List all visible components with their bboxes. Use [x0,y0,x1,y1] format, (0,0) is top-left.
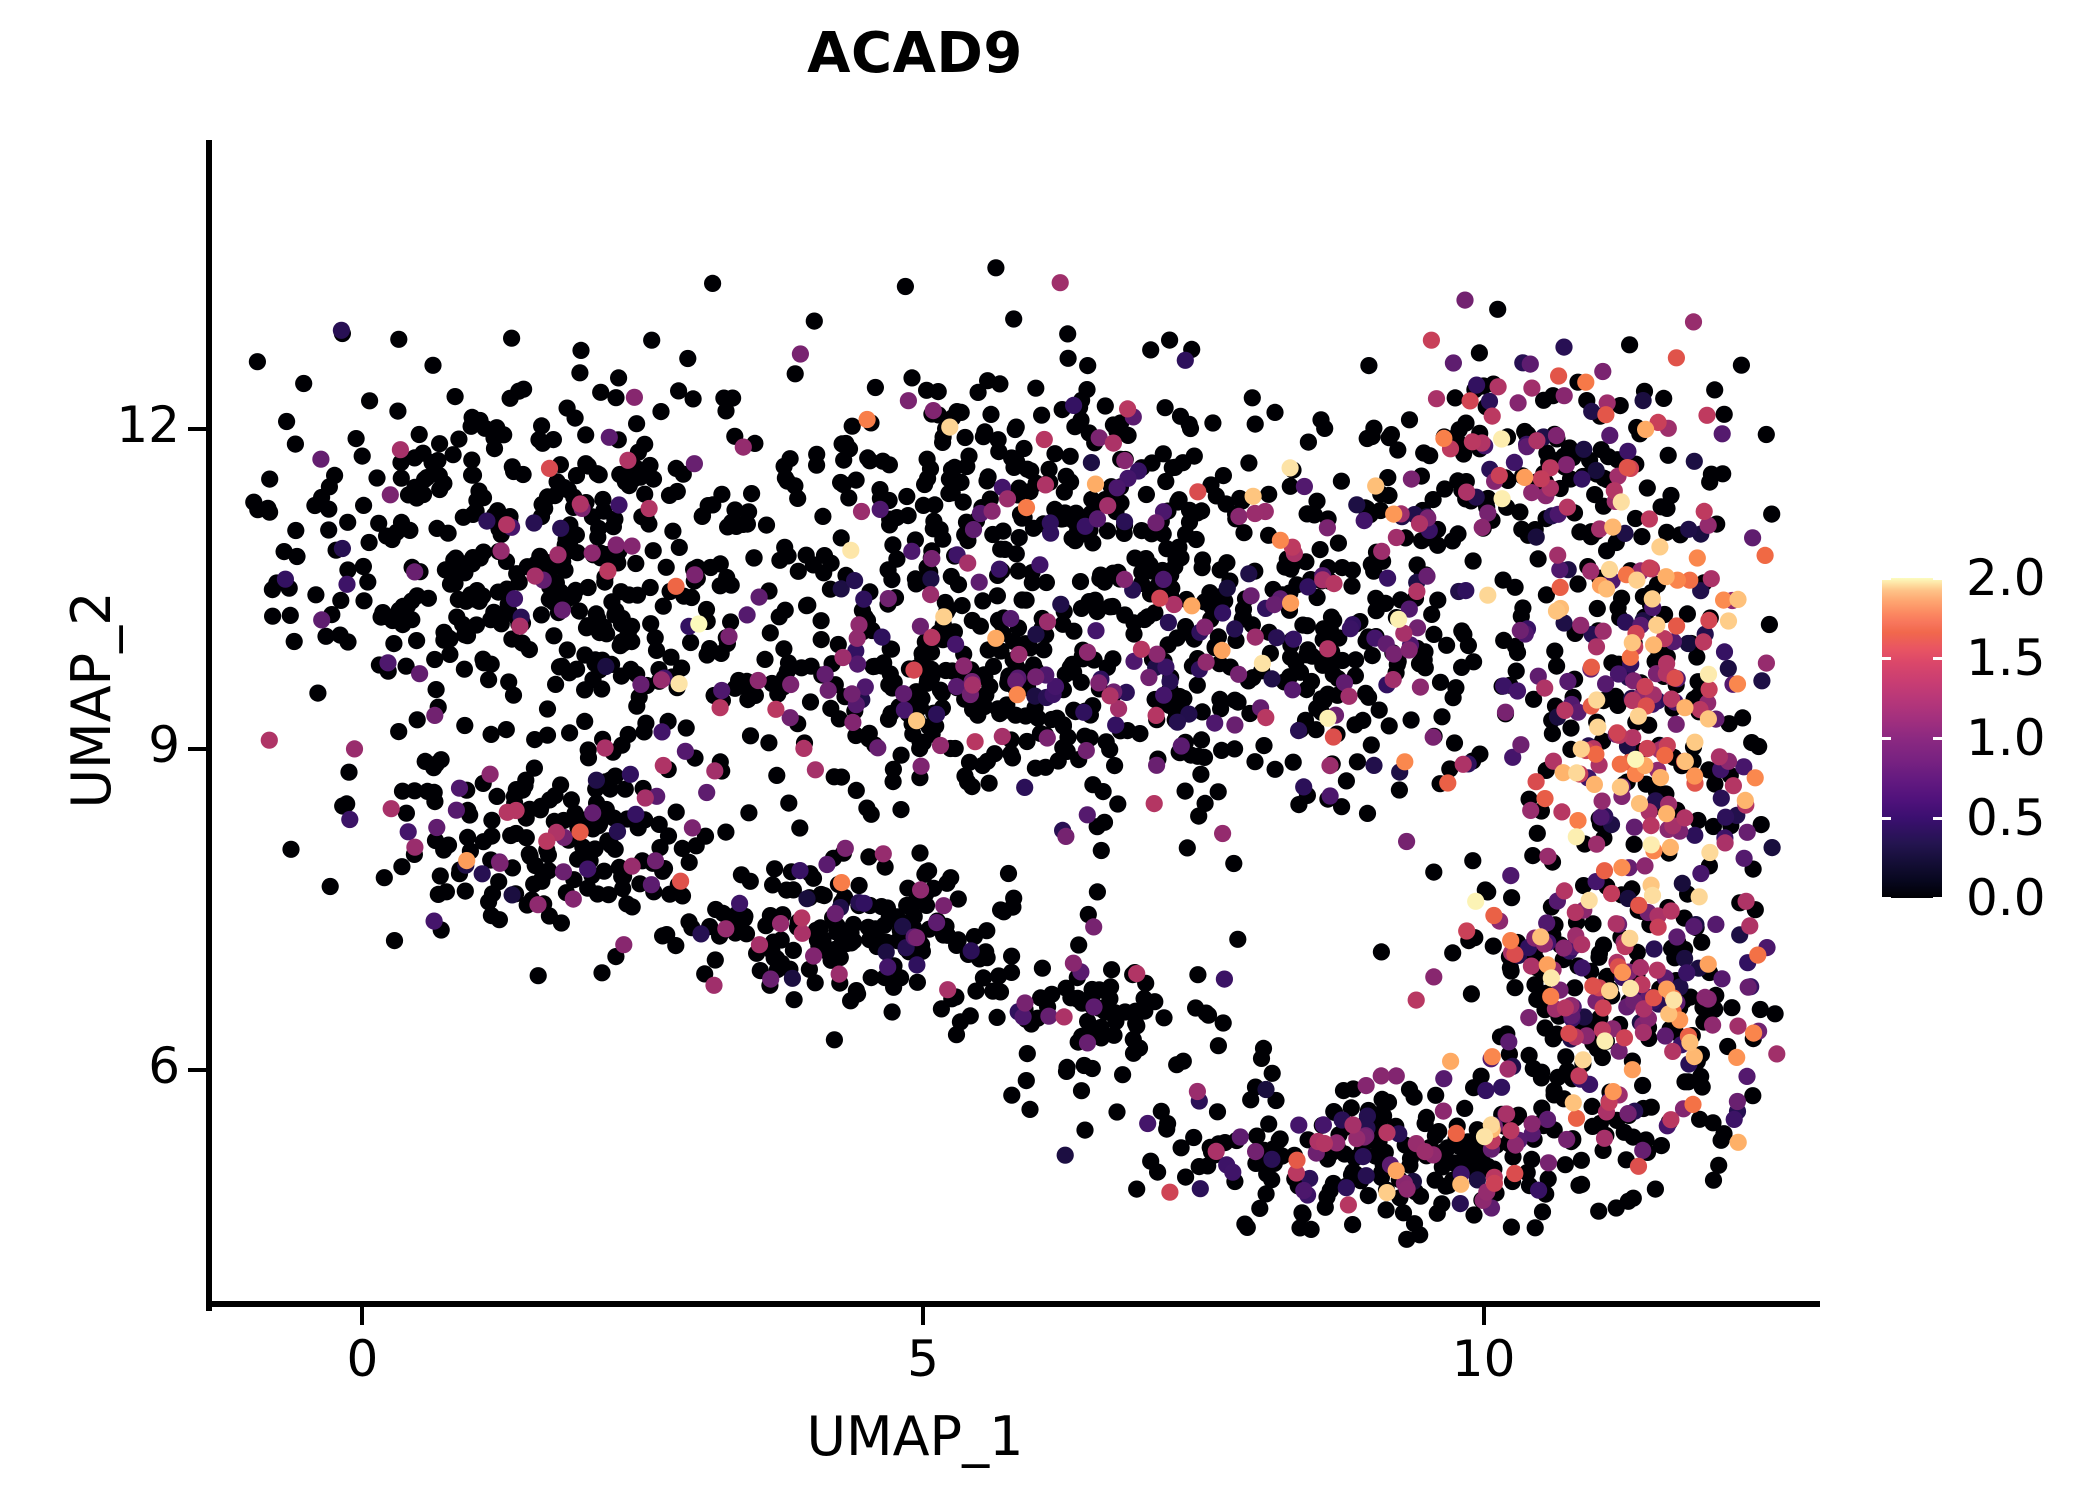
scatter-point [1573,1176,1590,1193]
scatter-point [912,881,929,898]
scatter-point [932,737,949,754]
scatter-point [521,846,538,863]
scatter-point [840,489,857,506]
scatter-point [717,824,734,841]
scatter-point [1114,1066,1131,1083]
scatter-point [332,592,349,609]
scatter-point [569,544,586,561]
scatter-point [1014,591,1031,608]
colorbar-tick-mark [1882,737,1891,740]
scatter-point [1686,827,1703,844]
scatter-point [1740,979,1757,996]
scatter-point [1282,595,1299,612]
scatter-point [1528,529,1545,546]
scatter-point [1230,508,1247,525]
scatter-point [1711,748,1728,765]
scatter-point [999,490,1016,507]
scatter-point [861,452,878,469]
scatter-point [1739,824,1756,841]
scatter-point [880,561,897,578]
scatter-point [923,629,940,646]
scatter-point [1212,561,1229,578]
colorbar-tick-label: 2.0 [1966,549,2046,607]
scatter-point [1747,769,1764,786]
scatter-point [1676,699,1693,716]
scatter-point [791,862,808,879]
scatter-point [1161,332,1178,349]
scatter-point [670,382,687,399]
scatter-point [480,671,497,688]
scatter-point [1319,640,1336,657]
scatter-point [798,890,815,907]
scatter-point [1204,414,1221,431]
scatter-point [622,766,639,783]
scatter-point [1198,654,1215,671]
scatter-point [1612,779,1629,796]
scatter-point [551,658,568,675]
scatter-point [812,919,829,936]
scatter-point [1017,707,1034,724]
scatter-point [814,508,831,525]
scatter-point [679,350,696,367]
scatter-point [1058,980,1075,997]
scatter-point [664,523,681,540]
scatter-point [1059,743,1076,760]
scatter-point [786,991,803,1008]
scatter-point [989,1009,1006,1026]
scatter-point [390,331,407,348]
scatter-point [960,448,977,465]
scatter-point [341,811,358,828]
scatter-point [1594,793,1611,810]
scatter-point [848,782,865,799]
scatter-point [699,646,716,663]
colorbar-tick-mark [1933,737,1942,740]
scatter-point [643,876,660,893]
scatter-point [1523,380,1540,397]
x-tick-label: 5 [907,1330,939,1388]
scatter-point [1700,710,1717,727]
scatter-point [572,495,589,512]
scatter-point [1002,610,1019,627]
scatter-point [1105,435,1122,452]
scatter-point [1148,757,1165,774]
scatter-point [1626,836,1643,853]
scatter-point [795,740,812,757]
scatter-point [976,423,993,440]
scatter-point [731,895,748,912]
scatter-point [1647,1181,1664,1198]
scatter-point [503,330,520,347]
scatter-point [1713,970,1730,987]
scatter-point [1155,1009,1172,1026]
scatter-point [1562,720,1579,737]
scatter-point [1268,629,1285,646]
scatter-point [588,772,605,789]
scatter-point [286,633,303,650]
scatter-point [888,509,905,526]
scatter-point [1056,1008,1073,1025]
scatter-point [1596,1032,1613,1049]
scatter-point [641,500,658,517]
scatter-point [1503,889,1520,906]
scatter-point [947,740,964,757]
scatter-point [805,556,822,573]
scatter-point [1452,1195,1469,1212]
scatter-point [1073,674,1090,691]
scatter-point [1700,666,1717,683]
scatter-point [1694,1078,1711,1095]
scatter-point [623,633,640,650]
scatter-point [1643,836,1660,853]
scatter-point [249,501,266,518]
scatter-point [1495,632,1512,649]
scatter-point [1349,753,1366,770]
scatter-point [1018,499,1035,516]
scatter-point [1681,1034,1698,1051]
scatter-point [627,555,644,572]
scatter-point [1686,767,1703,784]
scatter-point [1588,691,1605,708]
scatter-point [1344,1216,1361,1233]
scatter-point [1106,757,1123,774]
scatter-point [1445,689,1462,706]
scatter-point [880,711,897,728]
scatter-point [989,587,1006,604]
scatter-point [456,661,473,678]
scatter-point [1005,459,1022,476]
scatter-point [1474,519,1491,536]
scatter-point [1493,1079,1510,1096]
scatter-point [1031,556,1048,573]
scatter-point [1485,907,1502,924]
scatter-point [1316,1135,1333,1152]
scatter-point [667,937,684,954]
scatter-point [1701,681,1718,698]
scatter-point [1018,1072,1035,1089]
scatter-point [1058,1063,1075,1080]
scatter-point [1335,1082,1352,1099]
scatter-point [1691,888,1708,905]
scatter-point [1263,670,1280,687]
scatter-point [1246,753,1263,770]
scatter-point [1484,408,1501,425]
scatter-point [1728,1049,1745,1066]
scatter-point [1007,421,1024,438]
scatter-point [525,514,542,531]
scatter-point [309,685,326,702]
scatter-point [1539,1111,1556,1128]
scatter-point [607,841,624,858]
scatter-point [1375,1107,1392,1124]
scatter-point [974,592,991,609]
scatter-point [529,896,546,913]
scatter-point [1685,918,1702,935]
scatter-point [1614,964,1631,981]
scatter-point [1758,655,1775,672]
scatter-point [1528,773,1545,790]
scatter-point [1360,1187,1377,1204]
scatter-point [834,649,851,666]
scatter-point [1630,708,1647,725]
scatter-point [627,806,644,823]
scatter-point [757,917,774,934]
scatter-point [1684,1096,1701,1113]
colorbar-tick-mark [1882,897,1891,900]
scatter-point [408,632,425,649]
scatter-point [1506,454,1523,471]
scatter-point [457,883,474,900]
scatter-point [1052,596,1069,613]
scatter-point [1630,897,1647,914]
scatter-point [1356,512,1373,529]
scatter-point [1363,736,1380,753]
scatter-point [1181,502,1198,519]
scatter-point [1322,787,1339,804]
scatter-point [1383,426,1400,443]
scatter-point [1567,904,1584,921]
scatter-point [1619,459,1636,476]
scatter-point [1686,734,1703,751]
scatter-point [1373,1067,1390,1084]
scatter-point [1720,612,1737,629]
scatter-point [1421,447,1438,464]
scatter-point [1592,809,1609,826]
scatter-point [991,375,1008,392]
scatter-point [1622,649,1639,666]
scatter-point [833,874,850,891]
scatter-point [1260,486,1277,503]
scatter-point [682,634,699,651]
scatter-point [1295,1182,1312,1199]
scatter-point [706,762,723,779]
scatter-point [1608,915,1625,932]
scatter-point [1546,1086,1563,1103]
scatter-point [787,365,804,382]
scatter-point [609,823,626,840]
scatter-point [1365,757,1382,774]
scatter-point [348,430,365,447]
scatter-point [1403,471,1420,488]
scatter-point [1609,724,1626,741]
scatter-point [355,592,372,609]
scatter-point [872,501,889,518]
scatter-point [1055,716,1072,733]
scatter-point [424,357,441,374]
scatter-point [766,860,783,877]
scatter-point [446,575,463,592]
scatter-point [1354,712,1371,729]
scatter-point [563,791,580,808]
scatter-point [1636,678,1653,695]
scatter-point [1704,1114,1721,1131]
scatter-point [928,914,945,931]
scatter-point [1429,592,1446,609]
scatter-point [950,890,967,907]
scatter-point [743,485,760,502]
scatter-point [1744,1087,1761,1104]
scatter-point [911,844,928,861]
scatter-point [1612,756,1629,773]
scatter-point [1425,968,1442,985]
scatter-point [908,929,925,946]
scatter-point [1360,357,1377,374]
scatter-point [1425,626,1442,643]
scatter-point [1706,381,1723,398]
scatter-point [1391,781,1408,798]
scatter-point [671,675,688,692]
scatter-point [863,969,880,986]
scatter-point [1655,390,1672,407]
scatter-point [632,676,649,693]
scatter-point [642,579,659,596]
scatter-point [1546,643,1563,660]
scatter-point [1271,1132,1288,1149]
scatter-point [866,658,883,675]
scatter-point [1652,769,1669,786]
scatter-point [1639,479,1656,496]
scatter-point [333,322,350,339]
scatter-point [1191,1158,1208,1175]
scatter-point [1636,857,1653,874]
scatter-point [1723,999,1740,1016]
scatter-point [900,392,917,409]
scatter-point [1066,418,1083,435]
scatter-point [416,471,433,488]
scatter-point [944,484,961,501]
scatter-point [1604,519,1621,536]
scatter-point [607,768,624,785]
scatter-point [1411,1226,1428,1243]
scatter-point [898,488,915,505]
scatter-point [1455,756,1472,773]
scatter-point [1385,671,1402,688]
scatter-point [859,411,876,428]
scatter-point [813,631,830,648]
scatter-point [1347,651,1364,668]
scatter-point [837,435,854,452]
scatter-point [1558,1131,1575,1148]
scatter-point [504,886,521,903]
scatter-point [784,970,801,987]
scatter-point [1398,833,1415,850]
scatter-point [1589,600,1606,617]
scatter-point [498,516,515,533]
scatter-point [490,584,507,601]
scatter-point [607,389,624,406]
scatter-point [1539,848,1556,865]
scatter-point [249,353,266,370]
scatter-point [688,837,705,854]
scatter-point [1542,988,1559,1005]
scatter-point [1333,473,1350,490]
scatter-point [1761,616,1778,633]
scatter-point [1189,483,1206,500]
scatter-point [533,606,550,623]
scatter-point [428,681,445,698]
scatter-point [1146,795,1163,812]
scatter-point [483,656,500,673]
scatter-point [594,491,611,508]
scatter-point [1034,960,1051,977]
scatter-point [762,624,779,641]
scatter-point [1569,575,1586,592]
scatter-point [278,413,295,430]
scatter-point [386,932,403,949]
scatter-point [652,403,669,420]
scatter-point [846,572,863,589]
x-tick-mark [360,1307,364,1325]
scatter-point [698,784,715,801]
scatter-point [1027,668,1044,685]
scatter-point [1408,583,1425,600]
scatter-point [383,800,400,817]
scatter-point [445,552,462,569]
scatter-point [1107,717,1124,734]
scatter-point [961,754,978,771]
scatter-point [1385,506,1402,523]
scatter-point [533,417,550,434]
scatter-point [1340,1196,1357,1213]
scatter-point [1649,962,1666,979]
scatter-point [514,635,531,652]
scatter-point [1556,702,1573,719]
scatter-point [1442,1053,1459,1070]
scatter-point [1713,790,1730,807]
scatter-point [1401,411,1418,428]
scatter-point [393,514,410,531]
scatter-point [826,768,843,785]
scatter-point [1573,936,1590,953]
scatter-point [1107,1004,1124,1021]
scatter-point [1464,433,1481,450]
scatter-point [678,719,695,736]
scatter-point [655,757,672,774]
scatter-point [984,503,1001,520]
scatter-point [1698,407,1715,424]
scatter-point [1108,1103,1125,1120]
scatter-point [450,431,467,448]
scatter-point [1300,434,1317,451]
scatter-point [1401,641,1418,658]
scatter-point [1039,613,1056,630]
scatter-point [1540,1154,1557,1171]
scatter-point [1148,646,1165,663]
scatter-point [723,514,740,531]
scatter-point [1605,1083,1622,1100]
scatter-point [1288,1152,1305,1169]
scatter-point [1502,932,1519,949]
scatter-point [1733,357,1750,374]
scatter-point [1338,772,1355,789]
scatter-point [777,602,794,619]
scatter-point [1412,679,1429,696]
scatter-point [922,571,939,588]
colorbar-tick-label: 0.5 [1966,789,2046,847]
scatter-point [1635,1024,1652,1041]
scatter-point [1033,407,1050,424]
scatter-point [1216,971,1233,988]
scatter-point [1016,994,1033,1011]
scatter-point [1056,483,1073,500]
scatter-point [1378,1201,1395,1218]
scatter-point [572,824,589,841]
scatter-point [653,723,670,740]
scatter-point [1489,301,1506,318]
scatter-point [1634,1142,1651,1159]
scatter-point [1624,1061,1641,1078]
scatter-point [965,521,982,538]
